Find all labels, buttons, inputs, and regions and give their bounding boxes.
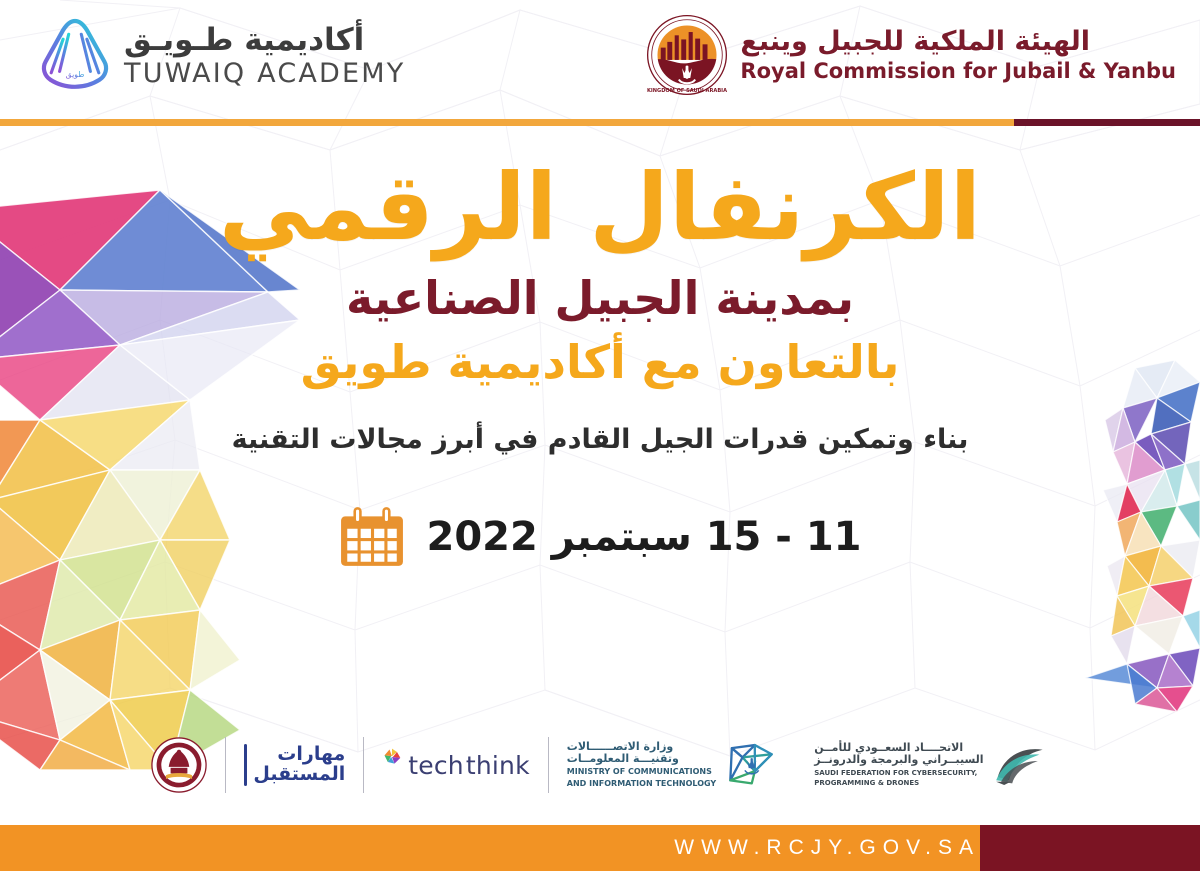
- tagline-text: بناء وتمكين قدرات الجيل القادم في أبرز م…: [232, 424, 969, 456]
- header-divider: [0, 119, 1200, 126]
- sponsor-saudi-federation-english-1: SAUDI FEDERATION FOR CYBERSECURITY,: [814, 769, 977, 778]
- sponsor-mcit: وزارة الاتصــــــالات وتقنيـــة المعلومـ…: [549, 731, 796, 799]
- sponsor-separator-2: [363, 737, 364, 793]
- calendar-icon: [339, 504, 405, 570]
- divider-maroon-segment: [1014, 119, 1200, 126]
- tuwaiq-shield-icon: طويق: [40, 18, 110, 94]
- event-date-text: 11 - 15 سبتمبر 2022: [427, 514, 862, 560]
- sponsor-saudi-federation: الاتحــــاد السعــودي للأمــن السيبــران…: [796, 731, 1066, 799]
- royal-commission-arabic-name: الهيئة الملكية للجبيل وينبع: [740, 28, 1090, 56]
- tuwaiq-arabic-name: أكاديمية طـويـق: [124, 25, 364, 56]
- maharat-arabic-1: مهارات: [253, 745, 345, 765]
- sponsor-mcit-english-1: MINISTRY OF COMMUNICATIONS: [567, 767, 712, 777]
- maharat-arabic-2: المستقبل: [253, 765, 345, 785]
- think-tech-word-2: tech: [408, 751, 464, 780]
- sponsor-mcit-english-2: AND INFORMATION TECHNOLOGY: [567, 779, 716, 789]
- poster-main-content: الكرنفال الرقمي بمدينة الجبيل الصناعية ب…: [0, 125, 1200, 725]
- sponsor-think-tech: think tech: [364, 731, 548, 799]
- subtitle-location: بمدينة الجبيل الصناعية: [346, 273, 854, 324]
- sponsor-maharat-almustaqbal: مهارات المستقبل: [226, 731, 363, 799]
- sponsor-mcit-arabic-1: وزارة الاتصــــــالات: [567, 741, 673, 753]
- page-title: الكرنفال الرقمي: [219, 161, 981, 255]
- sponsor-separator-3: [225, 737, 226, 793]
- saudi-royal-commission-seal-icon: KINGDOM OF SAUDI ARABIA: [646, 14, 728, 96]
- sponsor-logo-strip: الاتحــــاد السعــودي للأمــن السيبــران…: [0, 719, 1200, 811]
- svg-text:KINGDOM OF SAUDI ARABIA: KINGDOM OF SAUDI ARABIA: [647, 88, 727, 94]
- maharat-accent-bar: [244, 744, 247, 786]
- footer-maroon-segment: [980, 825, 1200, 871]
- tuwaiq-academy-logo: طويق أكاديمية طـويـق TUWAIQ ACADEMY: [40, 18, 406, 94]
- royal-commission-logo: الهيئة الملكية للجبيل وينبع Royal Commis…: [646, 14, 1176, 96]
- subtitle-partner: بالتعاون مع أكاديمية طويق: [301, 337, 900, 388]
- event-date-row: 11 - 15 سبتمبر 2022: [339, 504, 862, 570]
- think-tech-word-1: think: [466, 751, 530, 780]
- tuwaiq-english-name: TUWAIQ ACADEMY: [124, 60, 406, 87]
- poster-canvas: طويق أكاديمية طـويـق TUWAIQ ACADEMY الهي…: [0, 0, 1200, 871]
- sponsor-saudi-federation-english-2: PROGRAMMING & DRONES: [814, 779, 919, 788]
- mcit-logo-icon: [724, 742, 778, 788]
- website-url[interactable]: WWW.RCJY.GOV.SA: [674, 836, 980, 860]
- svg-text:طويق: طويق: [66, 70, 85, 79]
- footer-bar: WWW.RCJY.GOV.SA: [0, 825, 1200, 871]
- royal-commission-english-name: Royal Commission for Jubail & Yanbu: [740, 60, 1176, 82]
- college-seal-icon: [151, 737, 207, 793]
- poster-header: طويق أكاديمية طـويـق TUWAIQ ACADEMY الهي…: [0, 0, 1200, 120]
- think-tech-pinwheel-icon: [382, 747, 402, 767]
- sponsor-separator-1: [548, 737, 549, 793]
- sponsor-college-seal: [133, 731, 225, 799]
- footer-orange-segment: WWW.RCJY.GOV.SA: [0, 825, 980, 871]
- saudi-federation-swoosh-icon: [993, 745, 1049, 785]
- divider-orange-segment: [0, 119, 1014, 126]
- sponsor-mcit-arabic-2: وتقنيـــة المعلومــات: [567, 753, 679, 765]
- sponsor-saudi-federation-arabic-2: السيبــراني والبرمجة والدرونــز: [814, 754, 983, 766]
